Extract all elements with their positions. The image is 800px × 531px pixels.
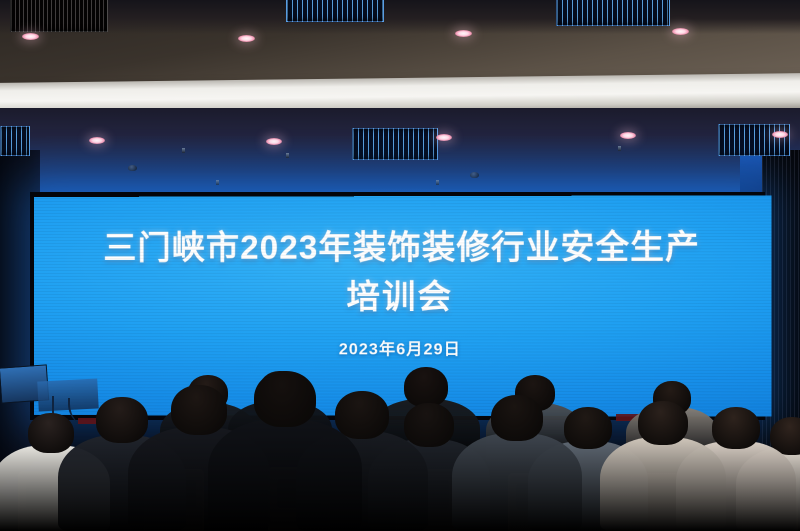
downlight-5 xyxy=(89,137,105,144)
attendee-9-head xyxy=(638,401,688,445)
downlight-9 xyxy=(772,131,788,138)
attendee-9 xyxy=(600,393,726,531)
attendee-4-head xyxy=(254,371,316,427)
downlight-2 xyxy=(238,35,255,42)
sprinkler-head-1-icon xyxy=(182,148,185,153)
sprinkler-head-5-icon xyxy=(436,180,439,185)
ceiling-camera-dome-icon xyxy=(128,165,137,171)
downlight-3 xyxy=(455,30,472,37)
audience-area xyxy=(0,330,800,531)
attendee-9-torso xyxy=(600,437,726,531)
downlight-8 xyxy=(620,132,636,139)
slide-title-line-1: 三门峡市2023年装饰装修行业安全生产 xyxy=(103,230,700,264)
downlight-7 xyxy=(436,134,452,141)
downlight-4 xyxy=(672,28,689,35)
attendee-7-head xyxy=(491,395,543,441)
ac-vent-ceiling-left-icon xyxy=(10,0,108,32)
ac-vent-lower-mid-icon xyxy=(352,128,438,160)
attendee-4-torso xyxy=(208,419,362,531)
sprinkler-head-2-icon xyxy=(286,153,289,158)
ac-vent-ceiling-right-icon xyxy=(556,0,670,26)
downlight-1 xyxy=(22,33,39,40)
slide-title-line-2: 培训会 xyxy=(347,280,454,313)
conference-hall-photo: 三门峡市2023年装饰装修行业安全生产 培训会 2023年6月29日 xyxy=(0,0,800,531)
ceiling-speaker-dome-icon xyxy=(470,172,479,178)
ac-vent-lower-right-icon xyxy=(718,124,790,156)
downlight-6 xyxy=(266,138,282,145)
ceiling-upper-panel xyxy=(0,0,800,84)
attendee-4 xyxy=(208,363,362,531)
sprinkler-head-3-icon xyxy=(618,146,621,151)
attendee-7-torso xyxy=(452,433,582,531)
sprinkler-head-4-icon xyxy=(216,180,219,185)
attendee-7 xyxy=(452,387,582,531)
ac-vent-lower-left-icon xyxy=(0,126,30,156)
ac-vent-ceiling-mid-icon xyxy=(286,0,384,22)
